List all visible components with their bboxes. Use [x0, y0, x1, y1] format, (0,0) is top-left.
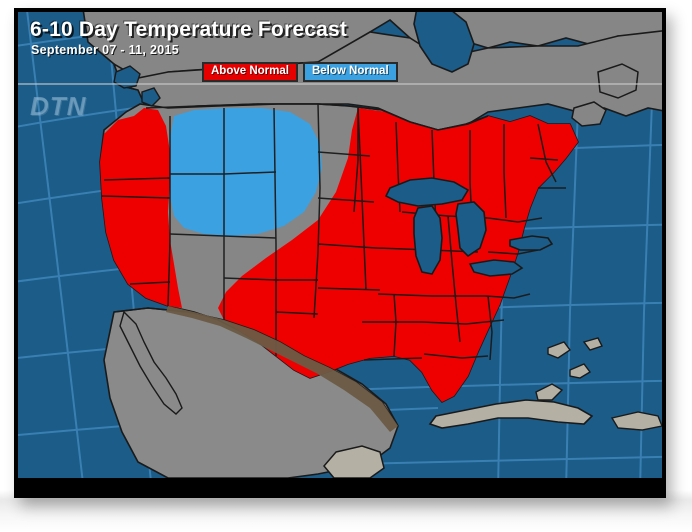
graphic-bottom-bar [18, 478, 662, 494]
header-divider [18, 83, 662, 85]
forecast-map[interactable]: 6-10 Day Temperature Forecast September … [18, 12, 662, 478]
legend-chip-below-normal[interactable]: Below Normal [303, 62, 398, 82]
map-legend: Above Normal Below Normal [202, 62, 398, 82]
legend-chip-above-normal[interactable]: Above Normal [202, 62, 298, 82]
weather-graphic-frame: 6-10 Day Temperature Forecast September … [14, 8, 666, 498]
screenshot-root: 6-10 Day Temperature Forecast September … [0, 0, 692, 532]
